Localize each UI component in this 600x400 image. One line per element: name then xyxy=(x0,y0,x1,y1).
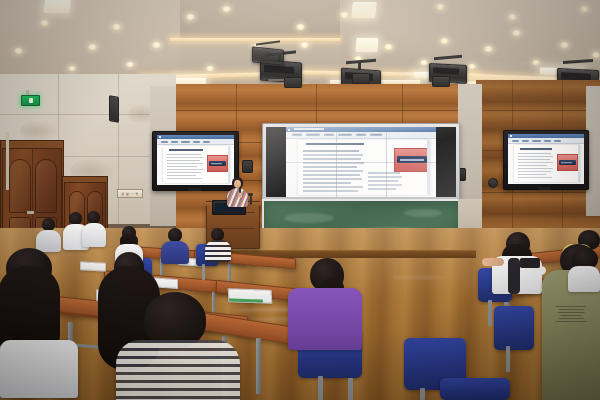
floor-reflection xyxy=(392,276,444,280)
desk-bag xyxy=(520,258,540,268)
student-purple xyxy=(288,258,368,368)
downlight xyxy=(300,42,309,48)
exit-sign-icon xyxy=(21,95,40,106)
student-rear-left xyxy=(36,218,62,252)
videowall-panel-area xyxy=(266,127,456,197)
student-jacket-stripe xyxy=(508,258,520,294)
ceiling-soffit-center xyxy=(180,0,340,40)
downlight xyxy=(512,30,521,36)
ceiling-projector xyxy=(252,42,288,68)
downlight xyxy=(592,52,600,58)
tee-print xyxy=(554,304,589,324)
downlight xyxy=(508,14,517,20)
videowall[interactable] xyxy=(262,123,460,201)
right-tv-stand xyxy=(538,187,551,190)
wall-speaker-center xyxy=(352,73,370,84)
wall-speaker-center-right xyxy=(432,76,450,87)
panel-light-2 xyxy=(351,2,377,18)
right-tv-screen xyxy=(508,134,584,184)
presenter-body xyxy=(227,188,248,207)
student-hand xyxy=(482,258,504,266)
downlight xyxy=(222,6,231,12)
student-foreground-farleft xyxy=(6,248,86,400)
exit-sign-mount xyxy=(26,90,29,95)
downlight xyxy=(296,24,305,30)
downlight xyxy=(436,4,445,10)
student-rear-left3 xyxy=(82,211,108,247)
left-tv-stand xyxy=(188,188,201,191)
right-tv-display[interactable] xyxy=(503,130,589,190)
student-right-partial xyxy=(568,248,600,292)
student-body xyxy=(205,240,231,262)
desk-leg xyxy=(228,261,231,283)
chair-leg xyxy=(318,376,323,400)
ceiling-soffit-right xyxy=(340,0,600,62)
wall-speaker-left xyxy=(109,95,119,123)
downlight xyxy=(186,14,195,20)
presenter-handheld-mic xyxy=(239,188,241,193)
student-foreground-center xyxy=(116,292,240,400)
lecture-hall-photo: 讲 堂 一 号 xyxy=(0,0,600,400)
panel-light-3 xyxy=(356,38,379,52)
student-striped-front xyxy=(203,228,233,262)
door-closer-rod xyxy=(6,132,9,190)
videowall-screen xyxy=(286,127,436,197)
downlight xyxy=(152,42,161,48)
downlight xyxy=(40,20,49,26)
wall-speaker-center-left xyxy=(284,77,302,88)
downlight xyxy=(484,46,493,52)
downlight xyxy=(68,66,76,71)
presenter xyxy=(225,177,251,207)
downlight xyxy=(112,24,121,30)
chair[interactable] xyxy=(494,306,534,350)
downlight xyxy=(384,44,393,50)
downlight xyxy=(126,62,134,67)
wall-plaque: 讲 堂 一 号 xyxy=(117,189,143,198)
desk-leg xyxy=(256,338,261,394)
downlight xyxy=(560,42,569,48)
chair-leg xyxy=(202,264,205,280)
downlight xyxy=(88,44,97,50)
chair-leg xyxy=(506,346,510,372)
downlight xyxy=(206,66,214,71)
ceiling-soffit-left xyxy=(0,0,180,74)
downlight xyxy=(420,60,428,65)
chair-leg xyxy=(488,300,492,326)
camera-icon xyxy=(488,178,498,188)
chair[interactable] xyxy=(440,378,510,400)
panel-light-1 xyxy=(43,0,71,13)
wall-speaker-podium xyxy=(242,160,253,173)
chair-leg xyxy=(348,378,353,400)
left-tv-screen xyxy=(157,135,234,185)
downlight xyxy=(340,12,349,18)
wall-plaque-text: 讲 堂 一 号 xyxy=(121,192,138,196)
cove-light-upper xyxy=(170,38,340,41)
document-figure xyxy=(394,148,430,172)
downlight xyxy=(532,60,540,65)
chair-leg xyxy=(420,388,425,400)
presenter-face xyxy=(234,180,241,188)
downlight xyxy=(440,38,449,44)
downlight xyxy=(14,48,23,54)
downlight xyxy=(580,6,589,12)
